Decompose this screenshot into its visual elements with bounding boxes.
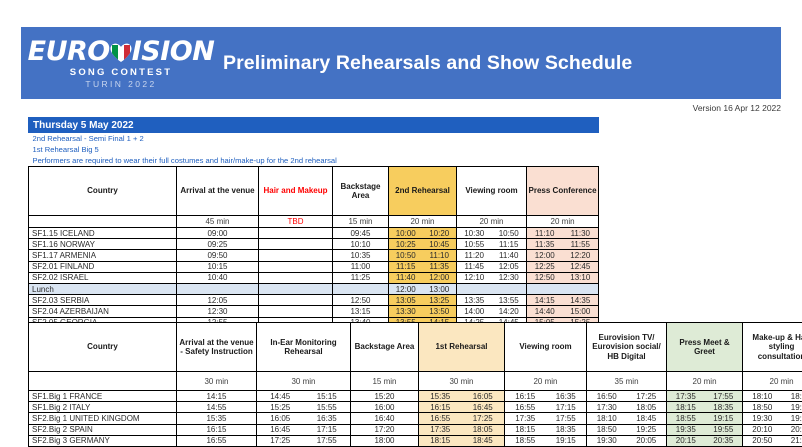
cell-rehearsal-end: 16:45 [462, 402, 505, 413]
cell-rehearsal-end: 13:25 [423, 295, 457, 306]
cell-backstage: 09:45 [333, 228, 389, 239]
col-header-arrival: Arrival at the venue [177, 167, 259, 216]
cell-rehearsal-start: 11:15 [389, 261, 423, 272]
cell-etv-end: 20:05 [627, 435, 667, 446]
break-row: Lunch12:0013:00 [29, 283, 599, 294]
cell-arrival: 09:25 [177, 239, 259, 250]
cell-country: SF2.Big 2 SPAIN [29, 424, 177, 435]
cell-rehearsal-end: 18:45 [462, 435, 505, 446]
cell-country: SF1.17 ARMENIA [29, 250, 177, 261]
duration2-viewing: 20 min [505, 372, 587, 391]
duration-backstage: 15 min [333, 216, 389, 228]
cell-backstage: 15:20 [351, 391, 419, 402]
cell-rehearsal-end: 10:45 [423, 239, 457, 250]
cell-country: SF2.04 AZERBAIJAN [29, 306, 177, 317]
header-banner: EURO ISION SONG CONTEST TURIN 2022 [21, 27, 781, 99]
cell-backstage: 16:00 [351, 402, 419, 413]
cell-press-meet-end: 19:15 [705, 413, 743, 424]
cell-backstage [333, 283, 389, 294]
note-row-1: 2nd Rehearsal - Semi Final 1 + 2 [29, 133, 599, 145]
col-header-hair-makeup: Hair and Makeup [259, 167, 333, 216]
duration2-arrival: 30 min [177, 372, 257, 391]
table-row: SF2.01 FINLAND10:1511:0011:1511:3511:451… [29, 261, 599, 272]
cell-makeup-start: 18:10 [743, 391, 782, 402]
cell-viewing-end: 13:55 [492, 295, 527, 306]
cell-backstage: 13:15 [333, 306, 389, 317]
cell-press-start: 14:15 [527, 295, 563, 306]
cell-makeup-end: 19:50 [782, 413, 802, 424]
cell-press-start: 14:40 [527, 306, 563, 317]
cell-arrival-safety: 14:15 [177, 391, 257, 402]
cell-inear-start: 16:05 [257, 413, 304, 424]
cell-viewing-end [492, 283, 527, 294]
table-row: SF1.17 ARMENIA09:5010:3510:5011:1011:201… [29, 250, 599, 261]
day-title: Thursday 5 May 2022 [29, 118, 599, 133]
cell-country: SF2.02 ISRAEL [29, 272, 177, 283]
cell-press-end: 12:20 [563, 250, 599, 261]
cell-inear-end: 15:55 [304, 402, 351, 413]
cell-viewing-end: 12:30 [492, 272, 527, 283]
cell-press-end: 11:55 [563, 239, 599, 250]
cell-arrival: 10:40 [177, 272, 259, 283]
col-header-backstage: Backstage Area [333, 167, 389, 216]
cell-viewing-start: 18:15 [505, 424, 546, 435]
table1-duration-row: 45 min TBD 15 min 20 min 20 min 20 min [29, 216, 599, 228]
cell-inear-end: 17:15 [304, 424, 351, 435]
cell-hair-makeup [259, 250, 333, 261]
cell-press-start: 11:10 [527, 228, 563, 239]
cell-press-end: 15:00 [563, 306, 599, 317]
note-1: 2nd Rehearsal - Semi Final 1 + 2 [29, 133, 599, 145]
cell-backstage: 17:20 [351, 424, 419, 435]
cell-etv-end: 19:25 [627, 424, 667, 435]
cell-makeup-start: 18:50 [743, 402, 782, 413]
cell-inear-start: 15:25 [257, 402, 304, 413]
cell-rehearsal-start: 10:00 [389, 228, 423, 239]
cell-arrival-safety: 15:35 [177, 413, 257, 424]
cell-country: SF1.Big 2 ITALY [29, 402, 177, 413]
cell-backstage: 11:25 [333, 272, 389, 283]
cell-hair-makeup [259, 283, 333, 294]
cell-etv-end: 17:25 [627, 391, 667, 402]
col-header-viewing-room: Viewing room [457, 167, 527, 216]
cell-backstage: 10:35 [333, 250, 389, 261]
cell-makeup-start: 20:50 [743, 435, 782, 446]
duration-press-conference: 20 min [527, 216, 599, 228]
cell-hair-makeup [259, 306, 333, 317]
cell-viewing-end: 14:20 [492, 306, 527, 317]
cell-makeup-start: 20:10 [743, 424, 782, 435]
cell-inear-start: 17:25 [257, 435, 304, 446]
cell-viewing-start: 13:35 [457, 295, 492, 306]
cell-arrival-safety: 16:15 [177, 424, 257, 435]
page-title: Preliminary Rehearsals and Show Schedule [223, 52, 632, 75]
table2-header-row: Country Arrival at the venue - Safety In… [29, 323, 802, 372]
cell-rehearsal-end: 18:05 [462, 424, 505, 435]
cell-press-end: 11:30 [563, 228, 599, 239]
cell-rehearsal-start: 18:15 [419, 435, 462, 446]
cell-arrival-safety: 16:55 [177, 435, 257, 446]
cell-viewing-end: 17:15 [546, 402, 587, 413]
day-title-row: Thursday 5 May 2022 [29, 118, 599, 133]
col-header-viewing-room-2: Viewing room [505, 323, 587, 372]
logo-subtitle: SONG CONTEST [70, 68, 172, 78]
col-header-backstage-2: Backstage Area [351, 323, 419, 372]
cell-press-end: 12:45 [563, 261, 599, 272]
cell-arrival: 12:05 [177, 295, 259, 306]
cell-country: SF2.03 SERBIA [29, 295, 177, 306]
cell-press-meet-end: 19:55 [705, 424, 743, 435]
cell-viewing-start: 16:15 [505, 391, 546, 402]
cell-viewing-end: 16:35 [546, 391, 587, 402]
cell-makeup-end: 20:30 [782, 424, 802, 435]
cell-arrival-safety: 14:55 [177, 402, 257, 413]
note-row-2: 1st Rehearsal Big 5 [29, 144, 599, 155]
cell-press-start: 12:00 [527, 250, 563, 261]
table-row: SF2.04 AZERBAIJAN12:3013:1513:3013:5014:… [29, 306, 599, 317]
cell-country: SF1.Big 1 FRANCE [29, 391, 177, 402]
schedule-page: EURO ISION SONG CONTEST TURIN 2022 [0, 0, 802, 443]
cell-press-end: 14:35 [563, 295, 599, 306]
cell-rehearsal-start: 13:30 [389, 306, 423, 317]
cell-hair-makeup [259, 228, 333, 239]
cell-viewing-end: 17:55 [546, 413, 587, 424]
cell-inear-start: 14:45 [257, 391, 304, 402]
cell-viewing-start: 10:30 [457, 228, 492, 239]
logo-text-post: ISION [132, 38, 215, 65]
cell-viewing-start: 18:55 [505, 435, 546, 446]
cell-press-meet-start: 19:35 [667, 424, 705, 435]
table-row: SF1.Big 1 FRANCE14:1514:4515:1515:2015:3… [29, 391, 802, 402]
cell-backstage: 11:00 [333, 261, 389, 272]
cell-rehearsal-end: 16:05 [462, 391, 505, 402]
table1-header-row: Country Arrival at the venue Hair and Ma… [29, 167, 599, 216]
eurovision-logo: EURO ISION SONG CONTEST TURIN 2022 [37, 38, 205, 88]
duration2-1st-rehearsal: 30 min [419, 372, 505, 391]
cell-makeup-end: 19:10 [782, 402, 802, 413]
cell-hair-makeup [259, 261, 333, 272]
cell-viewing-start: 10:55 [457, 239, 492, 250]
cell-rehearsal-start: 17:35 [419, 424, 462, 435]
note-3: Performers are required to wear their fu… [29, 155, 599, 167]
cell-press-end: 13:10 [563, 272, 599, 283]
table-row: SF1.Big 2 ITALY14:5515:2515:5516:0016:15… [29, 402, 802, 413]
cell-rehearsal-start: 16:15 [419, 402, 462, 413]
duration-viewing-room: 20 min [457, 216, 527, 228]
cell-backstage: 18:00 [351, 435, 419, 446]
cell-arrival: 10:15 [177, 261, 259, 272]
col-header-press-meet-greet: Press Meet & Greet [667, 323, 743, 372]
cell-inear-end: 15:15 [304, 391, 351, 402]
cell-viewing-end: 12:05 [492, 261, 527, 272]
duration2-backstage: 15 min [351, 372, 419, 391]
duration2-inear: 30 min [257, 372, 351, 391]
cell-viewing-end: 11:15 [492, 239, 527, 250]
cell-press-meet-end: 20:35 [705, 435, 743, 446]
cell-viewing-end: 19:15 [546, 435, 587, 446]
cell-viewing-start: 16:55 [505, 402, 546, 413]
cell-press-meet-end: 17:55 [705, 391, 743, 402]
cell-rehearsal-start: 10:25 [389, 239, 423, 250]
cell-etv-start: 18:10 [587, 413, 627, 424]
cell-country: SF1.16 NORWAY [29, 239, 177, 250]
cell-rehearsal-end: 13:00 [423, 283, 457, 294]
duration-hair-makeup: TBD [259, 216, 333, 228]
cell-etv-start: 17:30 [587, 402, 627, 413]
duration2-etv: 35 min [587, 372, 667, 391]
logo-host-city: TURIN 2022 [85, 80, 156, 89]
table-row: SF2.Big 2 SPAIN16:1516:4517:1517:2017:35… [29, 424, 802, 435]
cell-rehearsal-start: 11:40 [389, 272, 423, 283]
cell-viewing-end: 10:50 [492, 228, 527, 239]
note-2: 1st Rehearsal Big 5 [29, 144, 599, 155]
cell-hair-makeup [259, 272, 333, 283]
cell-etv-end: 18:05 [627, 402, 667, 413]
cell-viewing-start: 11:45 [457, 261, 492, 272]
cell-country: SF1.15 ICELAND [29, 228, 177, 239]
cell-rehearsal-start: 13:05 [389, 295, 423, 306]
cell-rehearsal-end: 11:10 [423, 250, 457, 261]
cell-arrival [177, 283, 259, 294]
note-row-3: Performers are required to wear their fu… [29, 155, 599, 167]
table-row: SF1.16 NORWAY09:2510:1010:2510:4510:5511… [29, 239, 599, 250]
col-header-country-2: Country [29, 323, 177, 372]
cell-press-meet-start: 20:15 [667, 435, 705, 446]
cell-press-meet-end: 18:35 [705, 402, 743, 413]
table-row: SF2.Big 3 GERMANY16:5517:2517:5518:0018:… [29, 435, 802, 446]
version-label: Version 16 Apr 12 2022 [693, 103, 781, 113]
col-header-inear-monitoring: In-Ear Monitoring Rehearsal [257, 323, 351, 372]
table2-body: SF1.Big 1 FRANCE14:1514:4515:1515:2015:3… [29, 391, 802, 447]
duration-2nd-rehearsal: 20 min [389, 216, 457, 228]
cell-press-start: 11:35 [527, 239, 563, 250]
cell-viewing-end: 18:35 [546, 424, 587, 435]
cell-rehearsal-start: 12:00 [389, 283, 423, 294]
duration-arrival: 45 min [177, 216, 259, 228]
table-row: SF1.15 ICELAND09:0009:4510:0010:2010:301… [29, 228, 599, 239]
cell-press-meet-start: 17:35 [667, 391, 705, 402]
cell-rehearsal-end: 11:35 [423, 261, 457, 272]
duration-country [29, 216, 177, 228]
schedule-table-big5: Country Arrival at the venue - Safety In… [28, 322, 802, 447]
cell-viewing-end: 11:40 [492, 250, 527, 261]
col-header-1st-rehearsal: 1st Rehearsal [419, 323, 505, 372]
cell-rehearsal-start: 10:50 [389, 250, 423, 261]
cell-arrival: 12:30 [177, 306, 259, 317]
cell-arrival: 09:00 [177, 228, 259, 239]
cell-press-start [527, 283, 563, 294]
cell-hair-makeup [259, 239, 333, 250]
cell-rehearsal-start: 15:35 [419, 391, 462, 402]
cell-country: Lunch [29, 283, 177, 294]
cell-backstage: 10:10 [333, 239, 389, 250]
cell-rehearsal-end: 13:50 [423, 306, 457, 317]
cell-rehearsal-end: 12:00 [423, 272, 457, 283]
logo-text-pre: EURO [28, 38, 110, 65]
duration2-country [29, 372, 177, 391]
cell-backstage: 12:50 [333, 295, 389, 306]
cell-etv-end: 18:45 [627, 413, 667, 424]
cell-press-start: 12:25 [527, 261, 563, 272]
cell-press-meet-start: 18:55 [667, 413, 705, 424]
cell-etv-start: 16:50 [587, 391, 627, 402]
cell-inear-end: 17:55 [304, 435, 351, 446]
cell-press-meet-start: 18:15 [667, 402, 705, 413]
cell-country: SF2.Big 3 GERMANY [29, 435, 177, 446]
col-header-arrival-safety: Arrival at the venue - Safety Instructio… [177, 323, 257, 372]
italy-heart-icon [110, 41, 132, 63]
cell-press-start: 12:50 [527, 272, 563, 283]
cell-inear-end: 16:35 [304, 413, 351, 424]
cell-arrival: 09:50 [177, 250, 259, 261]
table2-duration-row: 30 min 30 min 15 min 30 min 20 min 35 mi… [29, 372, 802, 391]
cell-makeup-end: 21:10 [782, 435, 802, 446]
cell-rehearsal-start: 16:55 [419, 413, 462, 424]
logo-wordmark: EURO ISION [28, 38, 215, 65]
col-header-2nd-rehearsal: 2nd Rehearsal [389, 167, 457, 216]
cell-makeup-end: 18:30 [782, 391, 802, 402]
cell-rehearsal-end: 10:20 [423, 228, 457, 239]
cell-viewing-start: 14:00 [457, 306, 492, 317]
cell-inear-start: 16:45 [257, 424, 304, 435]
cell-country: SF2.Big 1 UNITED KINGDOM [29, 413, 177, 424]
cell-etv-start: 18:50 [587, 424, 627, 435]
col-header-press-conference: Press Conference [527, 167, 599, 216]
col-header-eurovision-tv-digital: Eurovision TV/ Eurovision social/ HB Dig… [587, 323, 667, 372]
cell-viewing-start: 12:10 [457, 272, 492, 283]
table-row: SF2.Big 1 UNITED KINGDOM15:3516:0516:351… [29, 413, 802, 424]
table-row: SF2.02 ISRAEL10:4011:2511:4012:0012:1012… [29, 272, 599, 283]
cell-country: SF2.01 FINLAND [29, 261, 177, 272]
col-header-makeup-hair-consultation: Make-up & Hair styling consultation [743, 323, 802, 372]
cell-press-end [563, 283, 599, 294]
cell-viewing-start: 17:35 [505, 413, 546, 424]
cell-etv-start: 19:30 [587, 435, 627, 446]
cell-viewing-start: 11:20 [457, 250, 492, 261]
cell-makeup-start: 19:30 [743, 413, 782, 424]
cell-hair-makeup [259, 295, 333, 306]
cell-rehearsal-end: 17:25 [462, 413, 505, 424]
table-row: SF2.03 SERBIA12:0512:5013:0513:2513:3513… [29, 295, 599, 306]
cell-viewing-start [457, 283, 492, 294]
duration2-press-meet: 20 min [667, 372, 743, 391]
col-header-country: Country [29, 167, 177, 216]
duration2-makeup: 20 min [743, 372, 802, 391]
cell-backstage: 16:40 [351, 413, 419, 424]
